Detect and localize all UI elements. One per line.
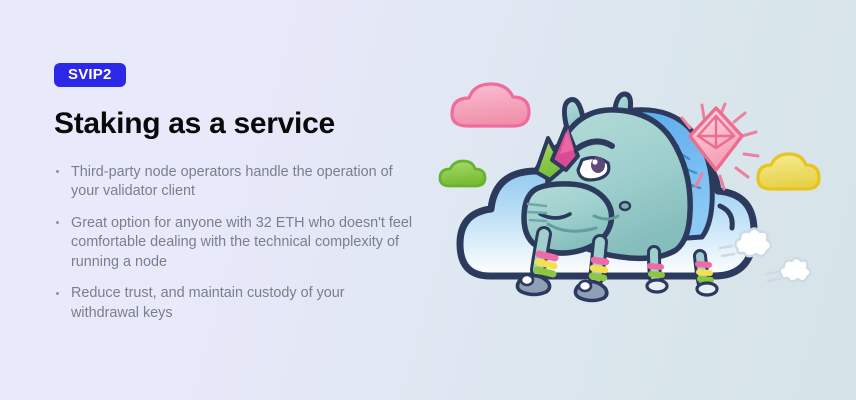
text-column: SVIP2 Staking as a service Third-party n… <box>54 63 414 323</box>
sock-stripes <box>592 260 606 278</box>
pink-cloud-icon <box>452 84 529 126</box>
slide-root: SVIP2 Staking as a service Third-party n… <box>0 0 856 400</box>
feature-bullet-list: Third-party node operators handle the op… <box>54 163 414 324</box>
illustration-svg <box>428 66 848 366</box>
list-item: Reduce trust, and maintain custody of yo… <box>54 284 414 323</box>
svip-badge: SVIP2 <box>54 63 126 87</box>
list-item-text: Third-party node operators handle the op… <box>71 164 393 200</box>
list-item-text: Great option for anyone with 32 ETH who … <box>71 215 412 270</box>
page-title: Staking as a service <box>54 108 414 140</box>
rhino-nostril <box>620 202 630 210</box>
rhino-on-cloud-illustration <box>428 66 848 366</box>
bullet-dot-icon <box>56 292 59 295</box>
sneaker <box>697 283 717 295</box>
list-item: Great option for anyone with 32 ETH who … <box>54 214 414 273</box>
sock-stripes <box>537 254 555 274</box>
sneaker <box>647 280 667 292</box>
bullet-dot-icon <box>56 221 59 224</box>
rhino-eye <box>578 157 609 180</box>
yellow-cloud-icon <box>758 154 819 189</box>
bullet-dot-icon <box>56 170 59 173</box>
list-item: Third-party node operators handle the op… <box>54 163 414 202</box>
dust-puff <box>766 258 811 281</box>
green-cloud-icon <box>440 161 485 186</box>
sock-stripes <box>698 264 711 280</box>
list-item-text: Reduce trust, and maintain custody of yo… <box>71 285 345 321</box>
